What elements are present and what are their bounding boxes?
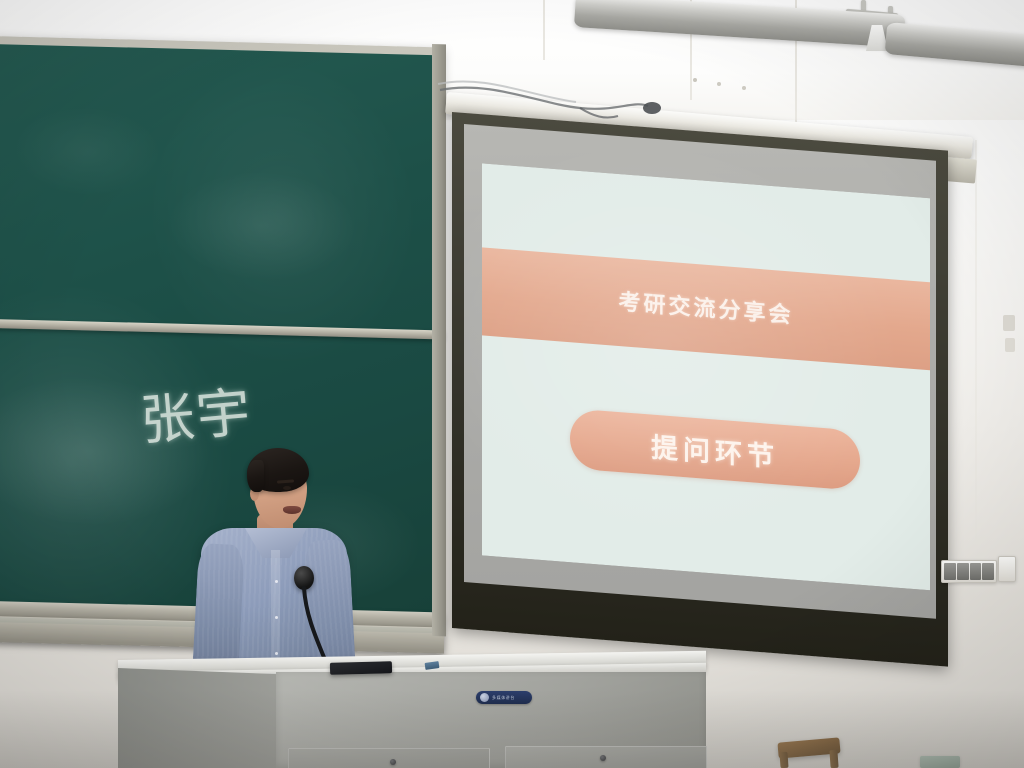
speaker-hair-side <box>247 460 264 492</box>
left-door-lock[interactable] <box>390 759 396 765</box>
rocker-switch-3[interactable] <box>970 563 982 580</box>
lecture-hall-photo: 张宇 考研交流分享会 提问环节 <box>0 0 1024 768</box>
rocker-switch-2[interactable] <box>957 563 969 580</box>
blackboard-right-post <box>432 44 446 636</box>
slide-background <box>482 163 930 590</box>
wall-mark-c <box>742 86 746 90</box>
wall-mark-d <box>1003 315 1015 331</box>
wall-mounted-panel <box>920 756 960 768</box>
projection-screen-surface: 考研交流分享会 提问环节 <box>464 124 936 619</box>
laptop-device[interactable] <box>330 661 392 675</box>
projected-slide: 考研交流分享会 提问环节 <box>482 163 930 590</box>
wooden-chair-leg-left <box>779 752 788 768</box>
podium-vent-2 <box>198 726 210 730</box>
wooden-chair-leg-right <box>829 750 838 768</box>
wall-seam-1 <box>543 0 545 60</box>
podium-brand-badge: 多媒体讲台 <box>476 691 532 704</box>
podium-left-panel <box>118 668 278 768</box>
podium-logo-text: 多媒体讲台 <box>492 695 515 701</box>
slide-main-text: 提问环节 <box>651 425 779 474</box>
rocker-switch-4[interactable] <box>982 563 994 580</box>
light-switch-plate[interactable] <box>941 560 997 583</box>
single-switch[interactable] <box>998 556 1016 582</box>
rocker-switch-1[interactable] <box>944 563 956 580</box>
podium-left-cabinet-door[interactable] <box>288 748 490 768</box>
wall-mark-e <box>1005 338 1015 352</box>
wall-seam-5 <box>975 140 977 540</box>
speaker-mouth <box>283 506 301 514</box>
podium-logo-mark <box>480 693 489 702</box>
podium-right-cabinet-door[interactable] <box>505 746 707 768</box>
speaker-eye <box>283 486 291 490</box>
right-door-lock[interactable] <box>600 755 606 761</box>
podium-vent-1 <box>198 712 210 716</box>
ceiling-cables <box>430 60 730 130</box>
